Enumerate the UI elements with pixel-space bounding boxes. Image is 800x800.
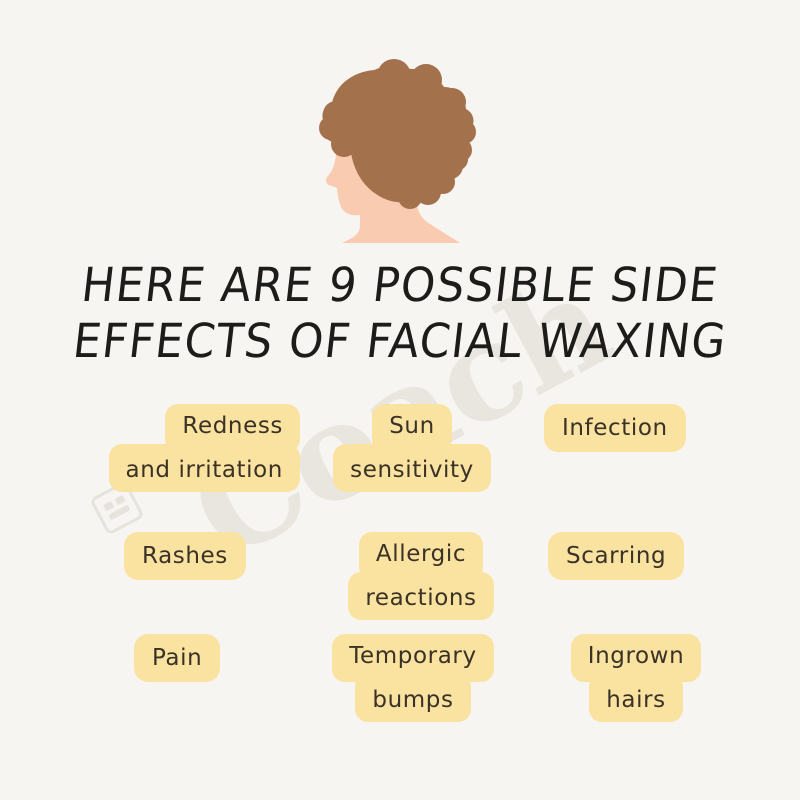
list-item: Redness and irritation xyxy=(80,404,300,492)
list-item: Infection xyxy=(530,404,720,452)
list-item: Allergic reactions xyxy=(310,532,510,620)
tag-line: bumps xyxy=(355,674,470,722)
page-title: HERE ARE 9 POSSIBLE SIDE EFFECTS OF FACI… xyxy=(0,258,800,370)
list-item: Scarring xyxy=(530,532,720,580)
list-item: Rashes xyxy=(80,532,300,580)
page-title-line-1: HERE ARE 9 POSSIBLE SIDE xyxy=(25,258,775,314)
list-item: Temporary bumps xyxy=(310,634,510,722)
tag-line: Rashes xyxy=(124,532,246,580)
tag-line: Pain xyxy=(134,634,220,682)
tag-pain[interactable]: Pain xyxy=(134,634,300,682)
tag-line: reactions xyxy=(348,572,493,620)
tag-infection[interactable]: Infection xyxy=(544,404,720,452)
tag-line: hairs xyxy=(589,674,683,722)
list-item: Ingrown hairs xyxy=(530,634,720,722)
page-title-line-2: EFFECTS OF FACIAL WAXING xyxy=(25,314,775,370)
tag-line: Infection xyxy=(544,404,686,452)
tag-line: sensitivity xyxy=(333,444,491,492)
illustration-woman-side-profile xyxy=(0,58,800,253)
tag-line: Scarring xyxy=(548,532,684,580)
side-effects-column-3: Infection Scarring Ingrown hairs xyxy=(530,404,720,744)
list-item: Pain xyxy=(80,634,300,682)
side-effects-column-1: Redness and irritation Rashes Pain xyxy=(80,404,300,744)
tag-temporary-bumps[interactable]: Temporary bumps xyxy=(316,634,510,722)
side-effects-column-2: Sun sensitivity Allergic reactions Tempo… xyxy=(310,404,510,744)
tag-allergic-reactions[interactable]: Allergic reactions xyxy=(332,532,510,620)
list-item: Sun sensitivity xyxy=(310,404,510,492)
woman-profile-svg xyxy=(300,58,500,253)
side-effects-grid: Redness and irritation Rashes Pain Sun xyxy=(0,404,800,744)
tag-redness-and-irritation[interactable]: Redness and irritation xyxy=(80,404,300,492)
tag-rashes[interactable]: Rashes xyxy=(124,532,300,580)
tag-line: and irritation xyxy=(109,444,300,492)
tag-scarring[interactable]: Scarring xyxy=(548,532,720,580)
tag-ingrown-hairs[interactable]: Ingrown hairs xyxy=(552,634,720,722)
infographic-canvas: HERE ARE 9 POSSIBLE SIDE EFFECTS OF FACI… xyxy=(0,0,800,800)
tag-sun-sensitivity[interactable]: Sun sensitivity xyxy=(314,404,510,492)
